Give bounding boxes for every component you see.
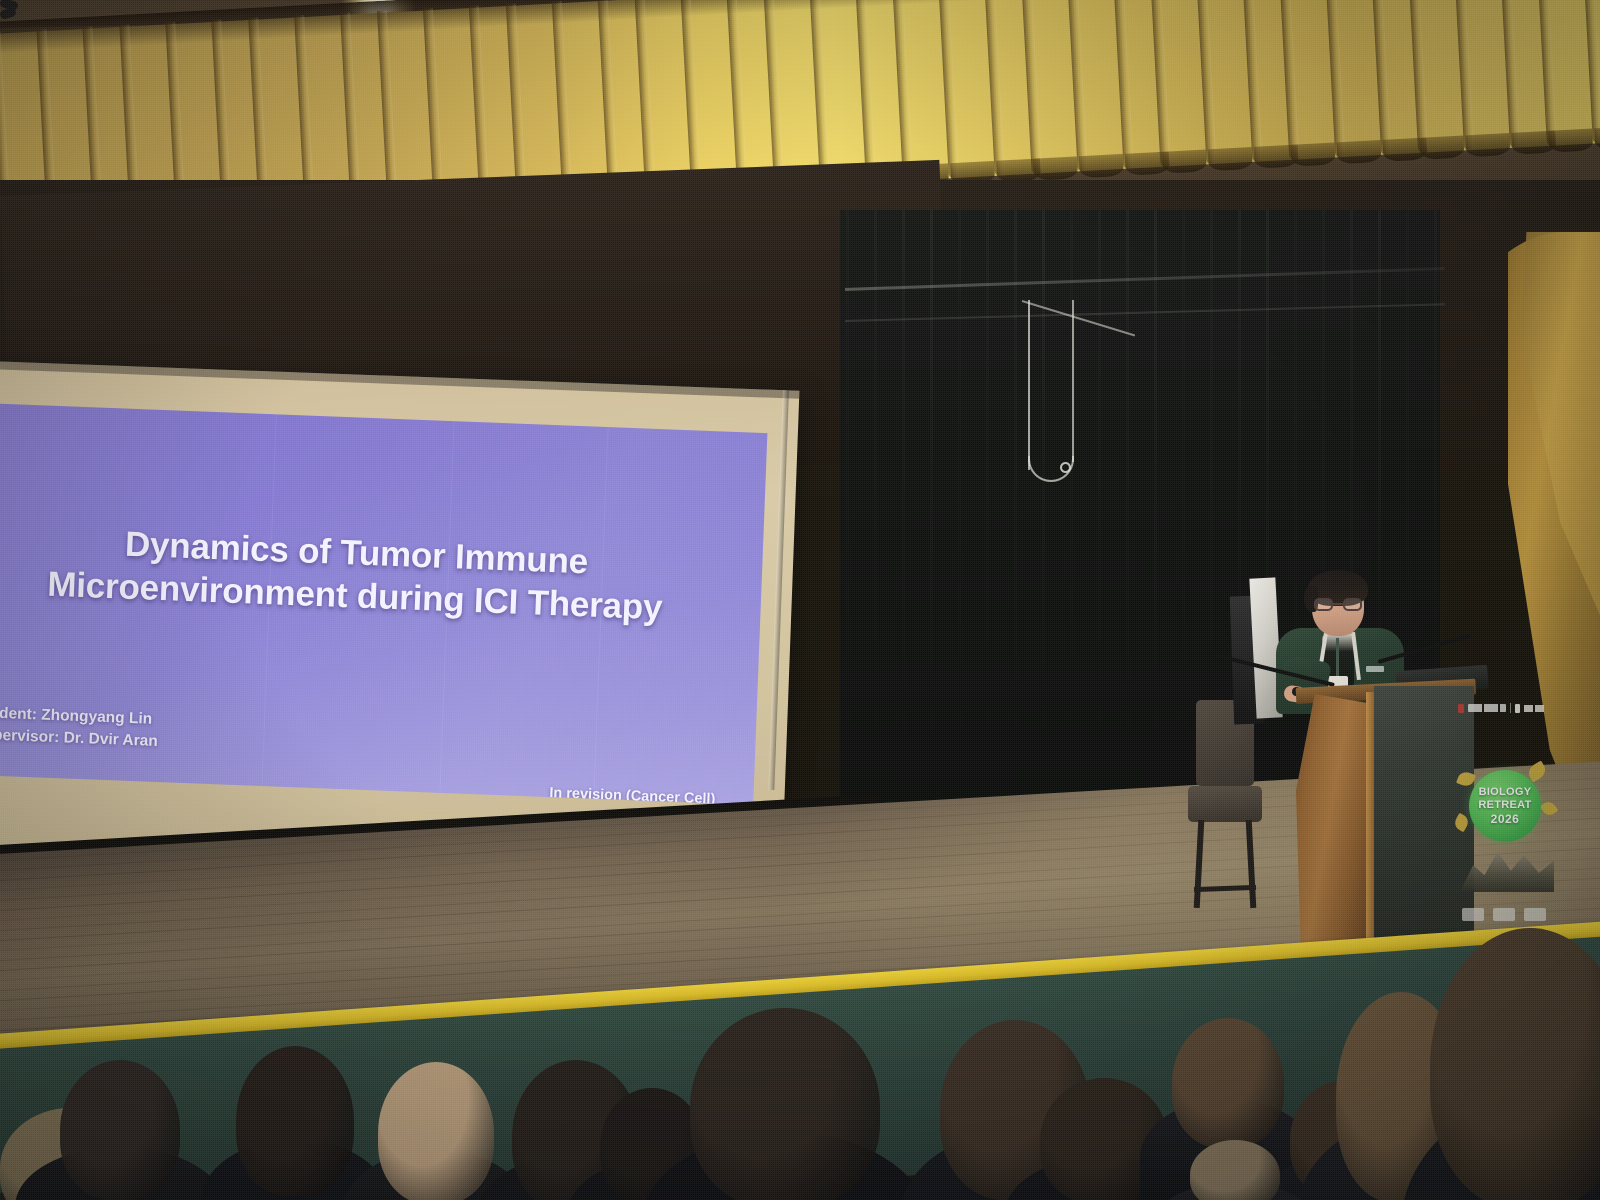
- valance-pleat-base: [1419, 135, 1464, 159]
- university-wordmark: [1524, 705, 1546, 712]
- sponsor-logo-2-icon: [1493, 908, 1515, 921]
- badge-text: BIOLOGY RETREAT 2026: [1469, 770, 1541, 842]
- lectern-podium: BIOLOGY RETREAT 2026: [1296, 686, 1476, 948]
- university-logo-mark-icon: [1515, 704, 1520, 713]
- stool-seat: [1188, 786, 1262, 822]
- faculty-logo-mark-icon: [1458, 704, 1464, 713]
- valance-pleat-base: [1465, 133, 1510, 157]
- valance-pleat-base: [1033, 156, 1078, 180]
- audience-head: [690, 1008, 880, 1200]
- valance-pleat-base: [1162, 149, 1207, 173]
- bar-stool: [1186, 700, 1262, 912]
- valance-pleat-base: [1291, 142, 1336, 166]
- sponsor-logo-1-icon: [1462, 908, 1484, 921]
- auditorium-scene: Dynamics of Tumor Immune Microenvironmen…: [0, 0, 1600, 1200]
- eyeglass-bridge: [1333, 603, 1343, 605]
- valance-pleat-base: [1548, 129, 1593, 153]
- audience-head: [378, 1062, 494, 1200]
- lectern-wood-side: [1296, 694, 1374, 948]
- banner-header-logos: [1458, 702, 1546, 714]
- stool-footrest: [1194, 885, 1256, 892]
- slide-credits: Student: Zhongyang Lin Supervisor: Dr. D…: [0, 702, 159, 754]
- lectern-banner-panel: BIOLOGY RETREAT 2026: [1374, 686, 1474, 944]
- valance-pleat-base: [1594, 126, 1600, 150]
- badge-line-3: 2026: [1491, 812, 1520, 826]
- valance-pleat-base: [1336, 140, 1381, 164]
- stool-leg: [1194, 820, 1205, 908]
- eyeglass-lens-right: [1343, 598, 1362, 611]
- curtain-pull-cord: [1028, 300, 1030, 470]
- valance-pleat-base: [1208, 147, 1253, 171]
- curtain-pull-cord-second: [1072, 300, 1074, 462]
- stool-leg: [1246, 820, 1257, 908]
- logo-divider: [1510, 703, 1511, 713]
- valance-pleat-base: [1079, 154, 1124, 178]
- eyeglasses-icon: [1314, 598, 1362, 611]
- banner-sponsor-logos: [1458, 904, 1550, 924]
- jacket-logo: [1366, 666, 1384, 672]
- badge-line-1: BIOLOGY: [1479, 786, 1532, 798]
- faculty-of-biology-wordmark: [1468, 704, 1506, 712]
- presentation-slide: Dynamics of Tumor Immune Microenvironmen…: [0, 402, 767, 805]
- biology-retreat-badge: BIOLOGY RETREAT 2026: [1469, 770, 1541, 842]
- audience-head: [60, 1060, 180, 1200]
- badge-line-2: RETREAT: [1478, 799, 1531, 811]
- audience-head: [1172, 1018, 1284, 1148]
- sponsor-logo-3-icon: [1524, 908, 1546, 921]
- curtain-cord-clip-icon: [1060, 462, 1071, 473]
- audience-head: [236, 1046, 354, 1196]
- eyeglass-lens-left: [1314, 598, 1333, 611]
